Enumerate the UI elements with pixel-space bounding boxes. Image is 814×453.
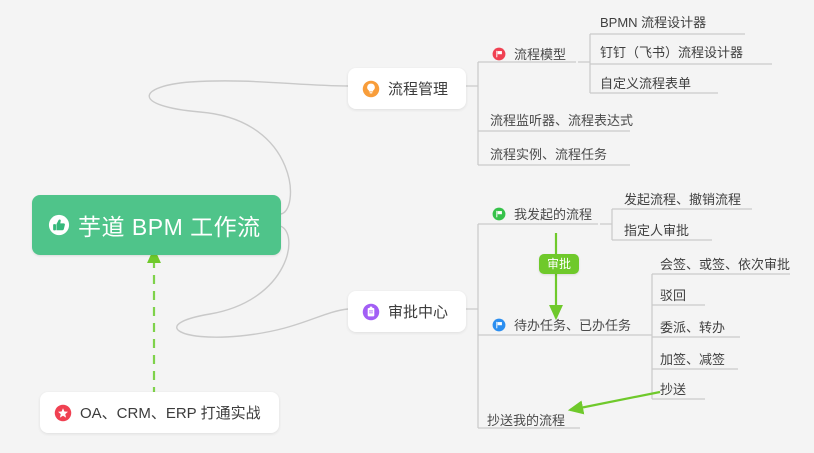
leaf-label: 加签、减签	[660, 349, 725, 368]
lightbulb-icon	[362, 80, 380, 98]
leaf-dingtalk-feishu-designer[interactable]: 钉钉（飞书）流程设计器	[600, 42, 743, 61]
flag-icon	[492, 318, 506, 332]
node-cc-to-me-process[interactable]: 抄送我的流程	[487, 410, 565, 429]
flag-icon	[492, 207, 506, 221]
leaf-delegate-transfer[interactable]: 委派、转办	[660, 317, 725, 336]
node-listener-expression[interactable]: 流程监听器、流程表达式	[490, 110, 633, 129]
mindmap-canvas: 芋道 BPM 工作流 流程管理 流程模型 BPMN 流程设计器 钉钉（飞书）流程…	[0, 0, 814, 453]
node-label: 我发起的流程	[514, 204, 592, 223]
leaf-cc[interactable]: 抄送	[660, 379, 686, 398]
leaf-label: 钉钉（飞书）流程设计器	[600, 42, 743, 61]
branch-process-management[interactable]: 流程管理	[348, 68, 466, 109]
root-label: 芋道 BPM 工作流	[78, 208, 261, 242]
leaf-label: 自定义流程表单	[600, 73, 691, 92]
leaf-label: 发起流程、撤销流程	[624, 189, 741, 208]
leaf-label: BPMN 流程设计器	[600, 12, 706, 31]
node-process-model[interactable]: 流程模型	[492, 44, 566, 63]
node-my-started-process[interactable]: 我发起的流程	[492, 204, 592, 223]
leaf-label: 指定人审批	[624, 220, 689, 239]
node-label: 待办任务、已办任务	[514, 315, 631, 334]
leaf-bpmn-designer[interactable]: BPMN 流程设计器	[600, 12, 706, 31]
leaf-custom-process-form[interactable]: 自定义流程表单	[600, 73, 691, 92]
arrow-cc-to-cc-process	[570, 392, 660, 410]
leaf-label: 抄送	[660, 379, 686, 398]
node-label: 流程模型	[514, 44, 566, 63]
leaf-countersign[interactable]: 会签、或签、依次审批	[660, 254, 790, 273]
thumbs-up-icon	[48, 214, 70, 236]
leaf-label: 会签、或签、依次审批	[660, 254, 790, 273]
leaf-label: 委派、转办	[660, 317, 725, 336]
branch-label: 审批中心	[388, 301, 448, 322]
leaf-add-remove-sign[interactable]: 加签、减签	[660, 349, 725, 368]
leaf-assignee-approval[interactable]: 指定人审批	[624, 220, 689, 239]
node-instance-task[interactable]: 流程实例、流程任务	[490, 144, 607, 163]
node-label: 抄送我的流程	[487, 410, 565, 429]
branch-label: 流程管理	[388, 78, 448, 99]
leaf-start-cancel-process[interactable]: 发起流程、撤销流程	[624, 189, 741, 208]
flag-icon	[492, 47, 506, 61]
leaf-reject[interactable]: 驳回	[660, 285, 686, 304]
root-node[interactable]: 芋道 BPM 工作流	[32, 195, 281, 255]
node-todo-done-task[interactable]: 待办任务、已办任务	[492, 315, 631, 334]
approval-flow-badge: 审批	[539, 254, 579, 274]
footer-node-integration[interactable]: OA、CRM、ERP 打通实战	[40, 392, 279, 433]
node-label: 流程监听器、流程表达式	[490, 110, 633, 129]
footer-node-label: OA、CRM、ERP 打通实战	[80, 402, 261, 423]
clipboard-icon	[362, 303, 380, 321]
node-label: 流程实例、流程任务	[490, 144, 607, 163]
branch-approval-center[interactable]: 审批中心	[348, 291, 466, 332]
star-icon	[54, 404, 72, 422]
leaf-label: 驳回	[660, 285, 686, 304]
